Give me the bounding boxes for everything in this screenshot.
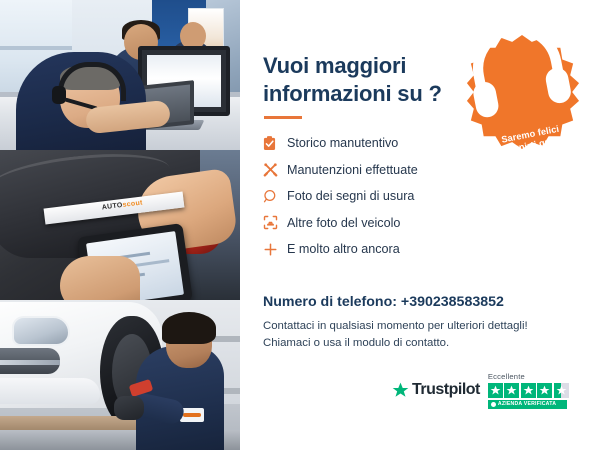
clipboard-check-icon (263, 136, 287, 151)
photo-technician-inspecting-car-with-tablet: AUTOscout (0, 150, 240, 300)
verified-check-icon (491, 402, 496, 407)
mechanic-hair (162, 312, 216, 344)
content-panel: Vuoi maggioriinformazioni su ? Saremo fe… (240, 0, 600, 450)
star-half (554, 383, 569, 398)
contact-subtext-line2: Chiamaci o usa il modulo di contatto. (263, 337, 449, 349)
badge-line4: su richiesta (510, 158, 563, 178)
promo-card: AUTOscout (0, 0, 600, 450)
list-item: Altre foto del veicolo (263, 210, 503, 237)
trustpilot-rating: Eccellente AZIENDA VERIFICATA (488, 372, 569, 409)
car-chrome-trim (0, 360, 60, 365)
page-title-line2: informazioni su ? (263, 81, 442, 106)
phone-number-label[interactable]: Numero di telefono: +390238583852 (263, 294, 504, 310)
list-item: E molto altro ancora (263, 236, 503, 263)
trustpilot-widget[interactable]: Trustpilot Eccellente AZIENDA VERIFICATA (392, 372, 569, 409)
list-item-label: Altre foto del veicolo (287, 216, 400, 230)
operator-headset-earcup (52, 86, 66, 104)
verified-business-label: AZIENDA VERIFICATA (498, 401, 556, 407)
star-filled (504, 383, 519, 398)
star-filled (537, 383, 552, 398)
car-bumper (0, 378, 100, 404)
list-item-label: Storico manutentivo (287, 136, 398, 150)
trustpilot-wordmark: Trustpilot (412, 381, 480, 399)
verified-business-badge: AZIENDA VERIFICATA (488, 400, 567, 409)
list-item: Manutenzioni effettuate (263, 157, 503, 184)
car-headlight (12, 316, 70, 346)
technician-hand-lower (60, 256, 140, 300)
trustpilot-logo: Trustpilot (392, 381, 480, 399)
operator-headset-band (58, 62, 126, 101)
page-title-line1: Vuoi maggiori (263, 53, 406, 78)
mechanic-glove (114, 396, 144, 420)
feature-list: Storico manutentivo Manutenzioni effettu… (263, 130, 503, 263)
page-title: Vuoi maggioriinformazioni su ? (263, 52, 473, 108)
list-item: Foto dei segni di usura (263, 183, 503, 210)
plus-icon (263, 242, 287, 257)
list-item: Storico manutentivo (263, 130, 503, 157)
title-underline-rule (264, 116, 302, 119)
contact-subtext-line1: Contattaci in qualsiasi momento per ulte… (263, 320, 528, 332)
list-item-label: E molto altro ancora (287, 242, 400, 256)
list-item-label: Manutenzioni effettuate (287, 163, 418, 177)
photo-mechanic-working-on-wheel (0, 300, 240, 450)
star-filled (521, 383, 536, 398)
inspection-strip-brand: AUTOscout (101, 199, 143, 211)
operator-body (16, 52, 146, 150)
trustpilot-rating-label: Eccellente (488, 372, 525, 381)
list-item-label: Foto dei segni di usura (287, 189, 414, 203)
crossed-tools-icon (263, 162, 287, 177)
photo-call-centre-operator-with-headset (0, 0, 240, 150)
star-filled (488, 383, 503, 398)
photo-column: AUTOscout (0, 0, 240, 450)
car-scan-icon (263, 215, 287, 230)
trustpilot-star-row (488, 383, 569, 398)
trustpilot-star-icon (392, 382, 409, 399)
magnifier-icon (263, 189, 287, 204)
